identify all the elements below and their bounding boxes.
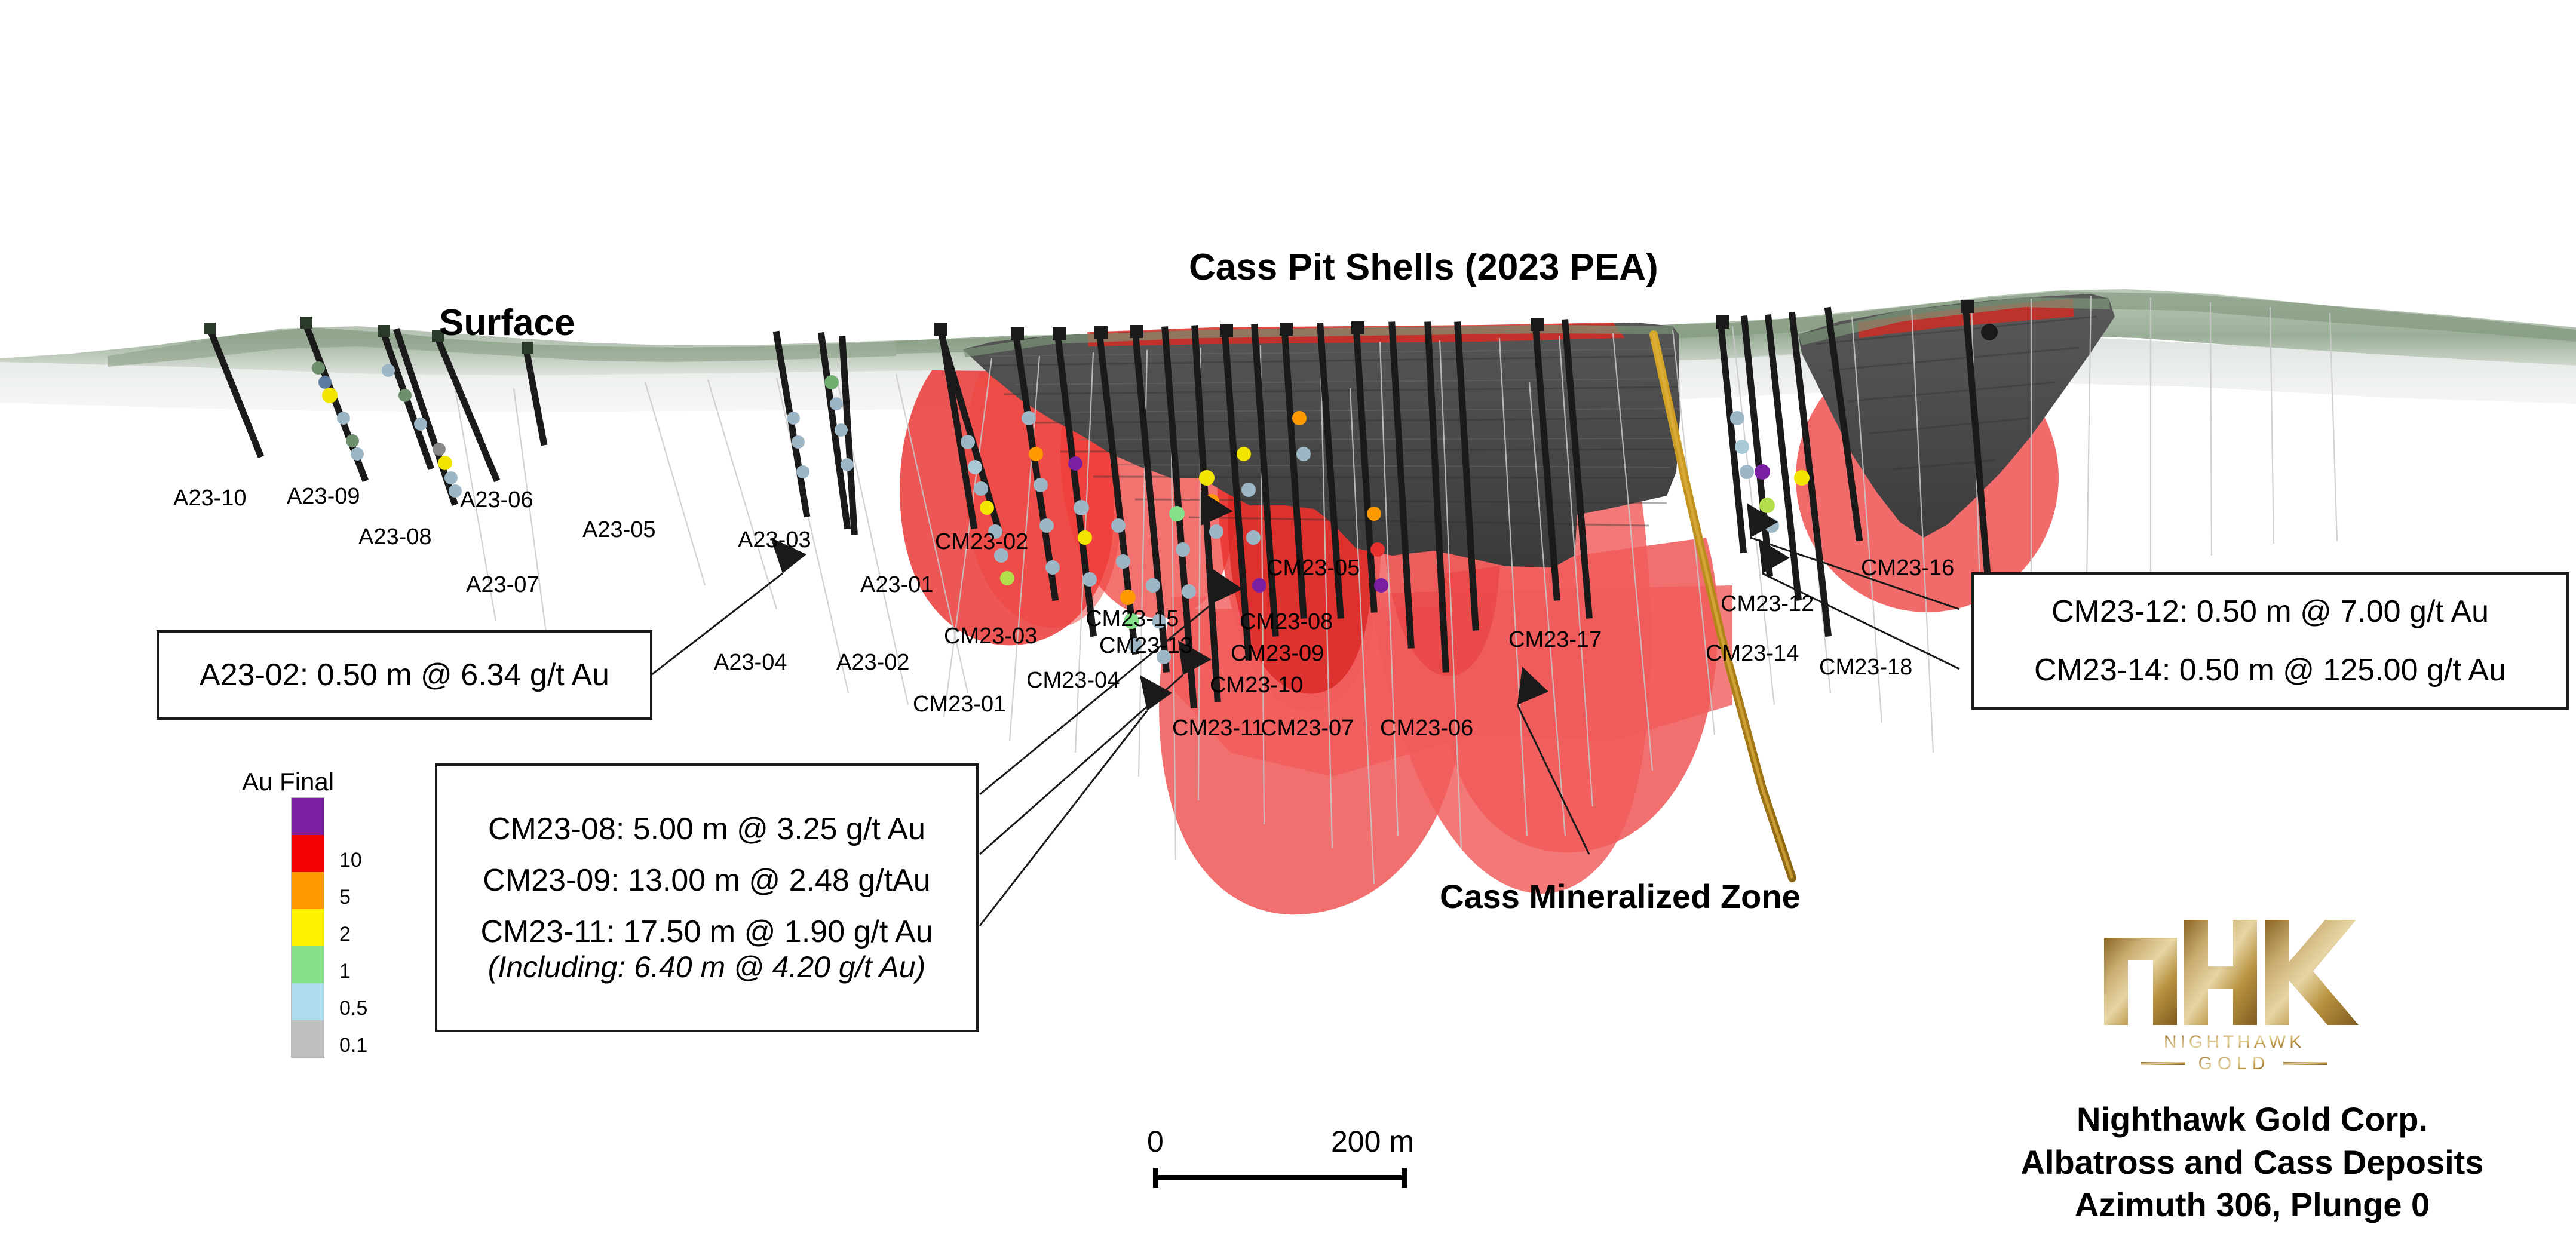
- drillhole-label: A23-04: [714, 651, 787, 675]
- legend-color-swatch: [292, 835, 324, 872]
- drillhole-label: CM23-07: [1261, 717, 1354, 741]
- footer-line-company: Nighthawk Gold Corp.: [1942, 1098, 2563, 1141]
- legend-tick-label: 1: [339, 960, 351, 983]
- legend-tick-label: 2: [339, 923, 351, 946]
- drillhole-label: CM23-01: [913, 693, 1006, 717]
- callout-line: CM23-08: 5.00 m @ 3.25 g/t Au: [437, 811, 976, 847]
- drillhole-label: CM23-09: [1231, 642, 1324, 666]
- svg-text:GOLD: GOLD: [2198, 1054, 2270, 1073]
- legend-color-swatch: [292, 1020, 324, 1057]
- callout-line: CM23-12: 0.50 m @ 7.00 g/t Au: [1974, 594, 2566, 630]
- figure-canvas: Cass Pit Shells (2023 PEA) Surface Cass …: [0, 0, 2576, 1246]
- legend-title: Au Final: [242, 768, 334, 796]
- drillhole-label: CM23-12: [1721, 593, 1814, 616]
- logo-monogram-k: [2265, 920, 2359, 1025]
- drillhole-label: CM23-17: [1508, 628, 1602, 652]
- legend-color-bar: [291, 797, 324, 1058]
- callout-line: CM23-14: 0.50 m @ 125.00 g/t Au: [1974, 652, 2566, 688]
- callout-cm-center: CM23-08: 5.00 m @ 3.25 g/t Au CM23-09: 1…: [435, 763, 979, 1032]
- drillhole-label: A23-02: [836, 651, 910, 675]
- drillhole-label: A23-08: [358, 526, 432, 550]
- scale-bar-label-max: 200 m: [1331, 1124, 1414, 1159]
- legend-tick-label: 0.5: [339, 997, 367, 1020]
- legend-color-swatch: [292, 798, 324, 835]
- scale-bar-cap-right: [1402, 1168, 1407, 1188]
- legend-tick-label: 5: [339, 886, 351, 909]
- logo-wordmark-nighthawk: NIGHTHAWK: [2164, 1032, 2305, 1052]
- drillhole-label: A23-07: [466, 573, 539, 597]
- callout-line-including: (Including: 6.40 m @ 4.20 g/t Au): [437, 950, 976, 984]
- drillhole-label: CM23-16: [1861, 557, 1954, 581]
- logo-svg: NIGHTHAWK GOLD: [2091, 914, 2378, 1075]
- legend-color-swatch: [292, 909, 324, 946]
- callout-line: CM23-11: 17.50 m @ 1.90 g/t Au: [437, 914, 976, 950]
- drillhole-label: CM23-15: [1085, 607, 1179, 631]
- annotation-cass-mineralized-zone: Cass Mineralized Zone: [1440, 879, 1801, 914]
- callout-line: CM23-09: 13.00 m @ 2.48 g/tAu: [437, 863, 976, 898]
- annotation-surface: Surface: [439, 303, 575, 342]
- callout-line: A23-02: 0.50 m @ 6.34 g/t Au: [159, 657, 650, 693]
- legend-color-swatch: [292, 872, 324, 909]
- logo-monogram-h: [2184, 920, 2257, 1025]
- drillhole-label: A23-10: [173, 487, 247, 511]
- logo-monogram-n: [2104, 938, 2177, 1025]
- footer-corp-block: Nighthawk Gold Corp. Albatross and Cass …: [1942, 1098, 2563, 1226]
- drillhole-label: A23-09: [287, 485, 360, 509]
- drillhole-label: A23-06: [460, 489, 533, 512]
- drillhole-label: CM23-10: [1210, 674, 1303, 698]
- drillhole-label: A23-01: [860, 573, 934, 597]
- footer-line-deposits: Albatross and Cass Deposits: [1942, 1141, 2563, 1184]
- drillhole-label: A23-03: [738, 529, 811, 553]
- nighthawk-gold-logo: NIGHTHAWK GOLD: [2091, 914, 2378, 1075]
- scale-bar: [1153, 1168, 1410, 1192]
- legend-color-swatch: [292, 983, 324, 1020]
- drillhole-label: CM23-18: [1819, 656, 1912, 680]
- logo-wordmark-gold: GOLD: [2141, 1054, 2327, 1073]
- drillhole-label: CM23-13: [1099, 634, 1192, 658]
- annotation-cass-pit-shells: Cass Pit Shells (2023 PEA): [1189, 248, 1658, 287]
- drillhole-label: CM23-11: [1172, 717, 1264, 741]
- scale-bar-line: [1153, 1175, 1407, 1180]
- legend-tick-label: 0.1: [339, 1034, 367, 1057]
- drillhole-label: CM23-08: [1240, 610, 1333, 634]
- scale-bar-label-zero: 0: [1147, 1124, 1164, 1159]
- drillhole-label: CM23-05: [1266, 557, 1360, 581]
- drillhole-label: CM23-04: [1026, 669, 1120, 693]
- legend-tick-label: 10: [339, 849, 362, 872]
- footer-line-orientation: Azimuth 306, Plunge 0: [1942, 1183, 2563, 1226]
- callout-cm-right: CM23-12: 0.50 m @ 7.00 g/t Au CM23-14: 0…: [1971, 572, 2569, 710]
- drillhole-label: CM23-14: [1706, 642, 1799, 666]
- drillhole-label: CM23-03: [944, 625, 1037, 649]
- legend-color-swatch: [292, 946, 324, 983]
- drillhole-label: CM23-06: [1380, 717, 1473, 741]
- callout-a23-02: A23-02: 0.50 m @ 6.34 g/t Au: [157, 630, 652, 720]
- drillhole-label: A23-05: [582, 518, 656, 542]
- drillhole-label: CM23-02: [935, 530, 1028, 554]
